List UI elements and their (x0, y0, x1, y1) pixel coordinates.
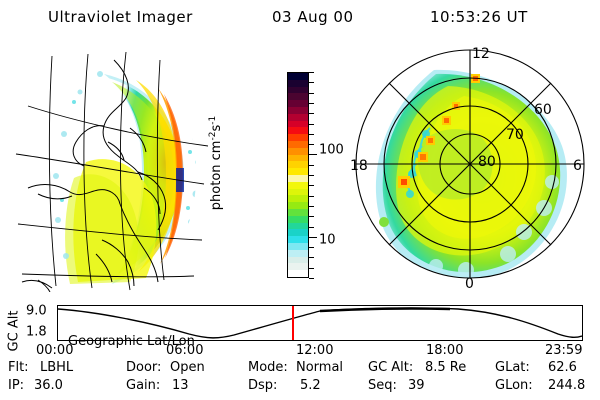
orbit-xtick-1: 06:00 (166, 343, 203, 358)
orbit-ytick-high: 9.0 (26, 304, 47, 319)
colorbar-axis-label: photon cm-2s-1 (208, 116, 224, 210)
colorbar-minor-tick (309, 216, 314, 217)
polar-lat-label-60: 60 (534, 102, 552, 118)
observation-time: 10:53:26 UT (430, 8, 528, 26)
status-door-value: Open (170, 360, 205, 375)
status-gain-value: 13 (172, 378, 189, 393)
orbit-ytick-low: 1.8 (26, 325, 47, 340)
colorbar-unit-sup1: -2 (208, 132, 218, 141)
colorbar-minor-tick (309, 93, 314, 94)
polar-aurora-image: 12 6 0 18 60 70 80 (348, 42, 592, 292)
colorbar-minor-tick (309, 175, 314, 176)
polar-mlt-label-6: 6 (573, 158, 582, 174)
colorbar-minor-tick (309, 165, 314, 166)
status-bar: Flt: LBHL Door: Open Mode: Normal GC Alt… (0, 360, 600, 400)
orbit-altitude-plot[interactable]: GC Alt 9.0 1.8 00:00 06:00 12:00 18:00 2… (0, 302, 600, 354)
colorbar-minor-tick (309, 247, 314, 248)
uvi-viewer-window: Ultraviolet Imager 03 Aug 00 10:53:26 UT (0, 0, 600, 400)
status-dsp-label: Dsp: (248, 378, 277, 393)
colorbar-minor-tick (309, 134, 314, 135)
orbit-y-axis-label: GC Alt (6, 310, 22, 352)
colorbar-minor-tick (309, 144, 314, 145)
colorbar-tick-label: 10 (319, 232, 336, 247)
status-dsp-value: 5.2 (300, 378, 321, 393)
status-gcalt-label: GC Alt: (368, 360, 413, 375)
colorbar-minor-tick (309, 72, 314, 73)
orbit-y-axis-text: GC Alt (7, 311, 22, 352)
colorbar-minor-tick (309, 103, 314, 104)
colorbar-minor-tick (309, 113, 314, 114)
status-mode-label: Mode: (248, 360, 288, 375)
observation-date: 03 Aug 00 (272, 8, 354, 26)
colorbar-minor-tick (309, 206, 314, 207)
header-bar: Ultraviolet Imager 03 Aug 00 10:53:26 UT (0, 6, 600, 32)
colorbar-minor-tick (309, 278, 314, 279)
colorbar-gradient (288, 73, 308, 277)
colorbar-minor-tick (309, 196, 314, 197)
orbit-time-cursor (292, 306, 294, 340)
orbit-xtick-4: 23:59 (545, 343, 582, 358)
instrument-title: Ultraviolet Imager (48, 8, 193, 26)
orbit-xtick-2: 12:00 (296, 343, 333, 358)
status-gcalt-value: 8.5 Re (425, 360, 466, 375)
colorbar-minor-tick (309, 268, 314, 269)
polar-projection-panel[interactable]: 12 6 0 18 60 70 80 Apex MLat/MLT (348, 42, 592, 292)
colorbar-tick-label: 100 (319, 143, 344, 158)
status-flt-value: LBHL (40, 360, 73, 375)
status-glat-label: GLat: (495, 360, 530, 375)
colorbar-minor-tick (309, 257, 314, 258)
colorbar-minor-tick (309, 124, 314, 125)
status-ip-value: 36.0 (34, 378, 63, 393)
status-glat-value: 62.6 (548, 360, 577, 375)
orbit-altitude-curve (58, 306, 582, 340)
colorbar-minor-tick (309, 82, 314, 83)
polar-mlt-label-18: 18 (350, 158, 368, 174)
polar-lat-label-80: 80 (478, 154, 496, 170)
status-mode-value: Normal (296, 360, 343, 375)
orbit-xtick-3: 18:00 (426, 343, 463, 358)
status-glon-label: GLon: (495, 378, 533, 393)
colorbar-minor-tick (309, 227, 314, 228)
status-door-label: Door: (126, 360, 161, 375)
status-seq-label: Seq: (368, 378, 397, 393)
colorbar-minor-tick (309, 185, 314, 186)
status-gain-label: Gain: (126, 378, 160, 393)
status-ip-label: IP: (8, 378, 24, 393)
polar-lat-label-70: 70 (506, 127, 524, 143)
colorbar-band (288, 270, 308, 277)
colorbar-swatch (287, 72, 309, 278)
polar-mlt-label-12: 12 (472, 46, 490, 62)
colorbar-tick-marks (309, 72, 317, 278)
colorbar-unit-main: photon cm (209, 141, 224, 211)
polar-mlt-label-0: 0 (465, 276, 474, 292)
colorbar-major-tick (309, 154, 317, 155)
orbit-plot-frame (57, 305, 583, 341)
colorbar-unit-mid: s (209, 125, 224, 132)
colorbar-major-tick (309, 237, 317, 238)
colorbar-unit-sup2: -1 (208, 116, 218, 125)
status-seq-value: 39 (408, 378, 425, 393)
orbit-xtick-0: 00:00 (36, 343, 73, 358)
colorbar-legend: photon cm-2s-1 10010 (262, 60, 350, 295)
status-flt-label: Flt: (8, 360, 29, 375)
status-glon-value: 244.8 (548, 378, 585, 393)
